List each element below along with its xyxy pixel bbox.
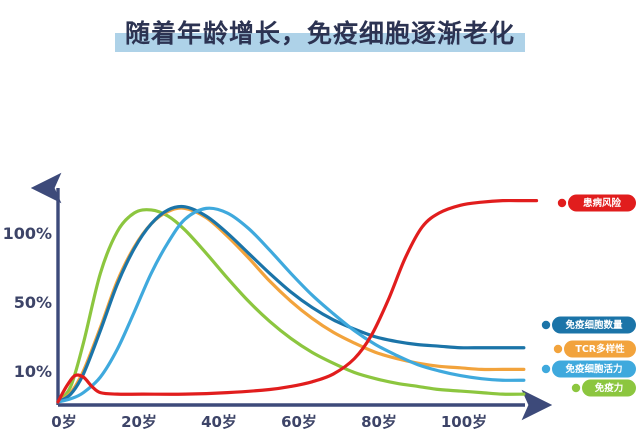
chart-axes [58,188,525,405]
x-tick-80: 80岁 [361,413,397,431]
legend-label-免疫细胞数量: 免疫细胞数量 [565,319,623,331]
legend-label-患病风险: 患病风险 [583,197,622,209]
series-line-患病风险 [58,201,537,402]
x-tick-20: 20岁 [121,413,157,431]
y-axis-tick-labels: 100% 50% 10% [3,224,52,381]
y-tick-10: 10% [14,362,52,381]
y-tick-100: 100% [3,224,52,243]
x-tick-60: 60岁 [281,413,317,431]
series-endpoint-dot-TCR多样性 [554,345,562,353]
legend-label-免疫力: 免疫力 [595,382,624,394]
x-tick-0: 0岁 [51,413,76,431]
series-endpoint-dot-免疫细胞活力 [542,365,550,373]
page-title: 随着年龄增长，免疫细胞逐渐老化 [125,19,515,48]
series-endpoint-dot-免疫力 [572,384,580,392]
immune-aging-line-chart: 100% 50% 10% 0岁 20岁 40岁 60岁 80岁 100岁 患病风… [0,0,640,444]
series-line-免疫细胞数量 [58,206,524,401]
series-endpoint-dot-患病风险 [558,199,566,207]
y-tick-50: 50% [14,293,52,312]
legend-label-TCR多样性: TCR多样性 [575,343,625,355]
legend-label-免疫细胞活力: 免疫细胞活力 [565,363,622,375]
chart-series-group [58,201,537,402]
series-endpoint-dot-免疫细胞数量 [542,321,550,329]
chart-legend: 患病风险免疫细胞数量TCR多样性免疫细胞活力免疫力 [542,195,636,397]
x-tick-40: 40岁 [201,413,237,431]
x-axis-tick-labels: 0岁 20岁 40岁 60岁 80岁 100岁 [51,413,487,431]
series-line-免疫细胞活力 [58,208,524,402]
x-tick-100: 100岁 [441,413,487,431]
